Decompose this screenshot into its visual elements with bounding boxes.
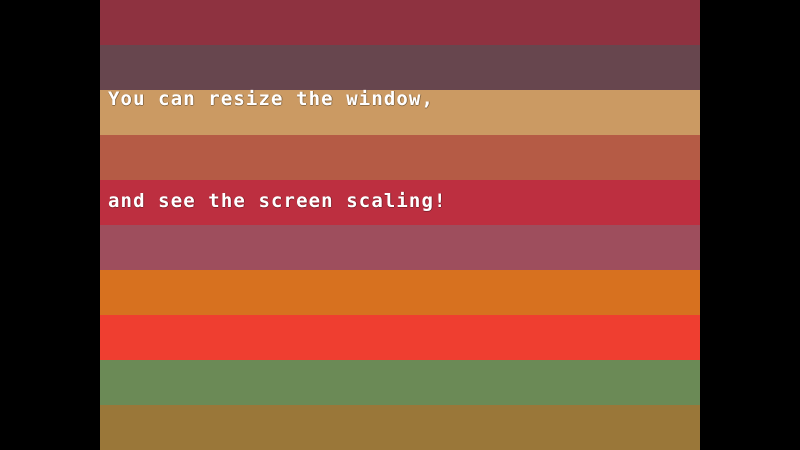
game-screen: You can resize the window, and see the s…: [0, 0, 800, 450]
band-terracotta: [100, 135, 700, 180]
band-plum: [100, 45, 700, 90]
band-crimson: [100, 180, 700, 225]
band-orange: [100, 270, 700, 315]
band-red-orange: [100, 315, 700, 360]
letterbox-left: [0, 0, 100, 450]
band-sage-green: [100, 360, 700, 405]
band-dark-red: [100, 0, 700, 45]
letterbox-right: [700, 0, 800, 450]
scaled-viewport: You can resize the window, and see the s…: [100, 0, 700, 450]
band-olive: [100, 405, 700, 450]
band-tan: [100, 90, 700, 135]
band-mauve: [100, 225, 700, 270]
